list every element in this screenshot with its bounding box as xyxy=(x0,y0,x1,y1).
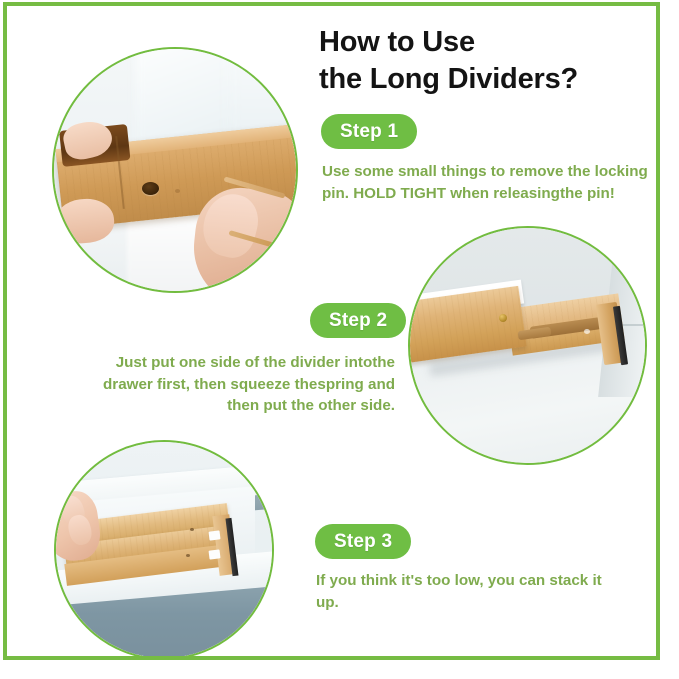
step2-badge: Step 2 xyxy=(310,303,406,338)
page-title-line-1: How to Use xyxy=(319,24,649,61)
step3-badge: Step 3 xyxy=(315,524,411,559)
step3-clip-upper xyxy=(209,530,221,540)
step3-photo-inner xyxy=(56,442,272,658)
step3-description: If you think it's too low, you can stack… xyxy=(316,570,616,613)
step2-description: Just put one side of the divider intothe… xyxy=(80,352,395,417)
step2-pin-hole xyxy=(584,329,590,334)
step3-photo xyxy=(54,440,274,660)
step1-description: Use some small things to remove the lock… xyxy=(322,161,657,204)
step2-photo xyxy=(408,226,647,465)
infographic-page: How to Use the Long Dividers? Step 1 Use… xyxy=(0,0,679,679)
step1-photo-inner xyxy=(54,49,296,291)
step1-badge: Step 1 xyxy=(321,114,417,149)
step1-photo xyxy=(52,47,298,293)
page-title: How to Use the Long Dividers? xyxy=(319,24,649,97)
step3-clip-lower xyxy=(209,549,221,559)
page-title-line-2: the Long Dividers? xyxy=(319,61,649,98)
step2-photo-inner xyxy=(410,228,645,463)
